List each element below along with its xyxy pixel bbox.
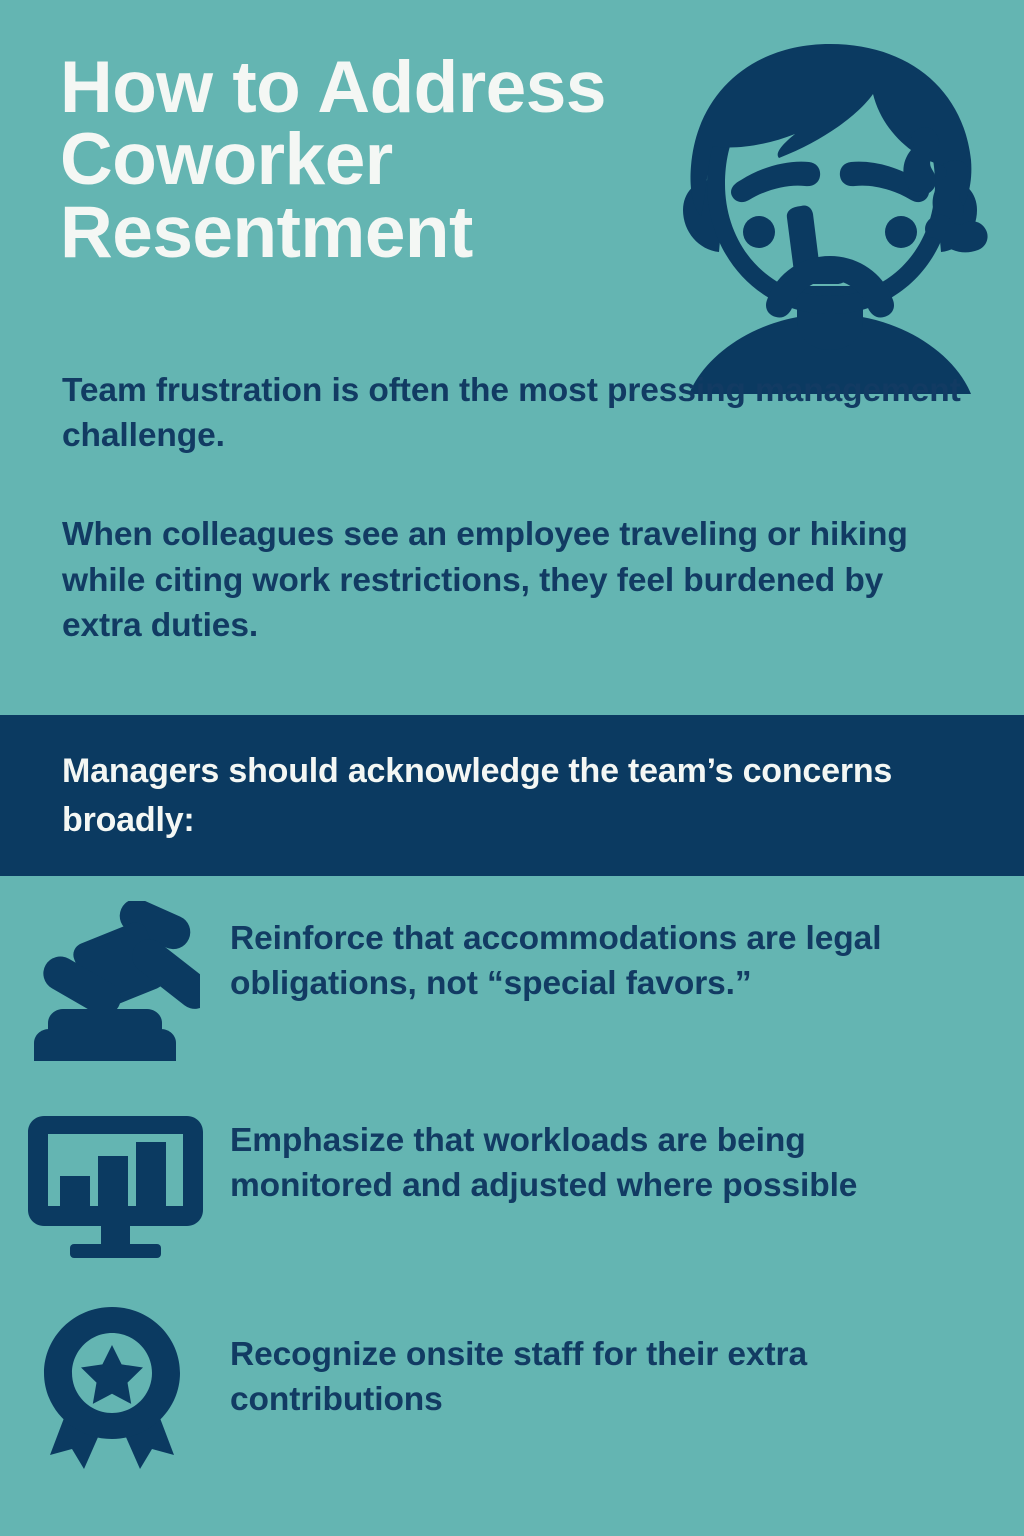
banner: Managers should acknowledge the team’s c… — [0, 715, 1024, 876]
list-item-text: Emphasize that workloads are being monit… — [230, 1095, 1024, 1208]
banner-text: Managers should acknowledge the team’s c… — [0, 747, 1024, 844]
bullet-list: Reinforce that accommodations are legal … — [0, 893, 1024, 1499]
list-item-text: Recognize onsite staff for their extra c… — [230, 1297, 1024, 1422]
title-block: How to Address Coworker Resentment — [60, 52, 680, 269]
list-item-text: Reinforce that accommodations are legal … — [230, 893, 1024, 1006]
intro-paragraph-2: When colleagues see an employee travelin… — [62, 512, 962, 648]
monitor-bar-chart-icon — [0, 1095, 230, 1275]
infographic-poster: How to Address Coworker Resentment — [0, 0, 1024, 1536]
gavel-icon — [0, 893, 230, 1073]
list-item: Reinforce that accommodations are legal … — [0, 893, 1024, 1073]
list-item: Emphasize that workloads are being monit… — [0, 1095, 1024, 1275]
intro-paragraph-1: Team frustration is often the most press… — [62, 368, 962, 458]
page-title: How to Address Coworker Resentment — [60, 52, 680, 269]
list-item: Recognize onsite staff for their extra c… — [0, 1297, 1024, 1477]
frustrated-person-illustration — [645, 38, 1015, 394]
intro-block: Team frustration is often the most press… — [62, 368, 962, 648]
award-ribbon-icon — [0, 1297, 230, 1477]
